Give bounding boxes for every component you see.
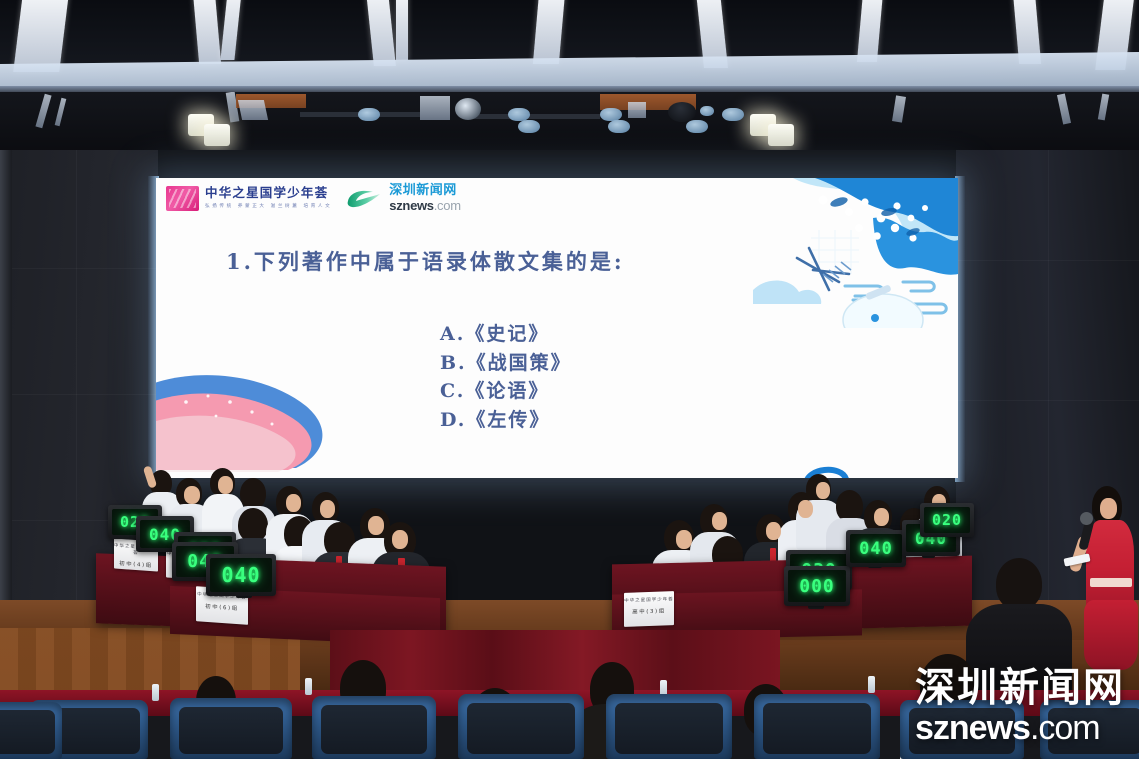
nameplate-label: 高中(3)组 bbox=[624, 606, 674, 616]
ceiling-structure bbox=[0, 0, 1139, 92]
option-b: B.《战国策》 bbox=[440, 349, 572, 378]
seat bbox=[170, 698, 292, 759]
event-subtitle: 弘扬传统 养蒙正大 滋兰树蕙 培育人文 bbox=[205, 203, 332, 209]
answer-options: A.《史记》 B.《战国策》 C.《论语》 D.《左传》 bbox=[440, 320, 572, 434]
seat bbox=[458, 694, 584, 759]
slide-decoration-top-right bbox=[753, 178, 958, 328]
projection-screen: 中华之星国学少年荟 弘扬传统 养蒙正大 滋兰树蕙 培育人文 深圳新闻网 bbox=[156, 178, 958, 478]
score-display-right-2: 000 bbox=[784, 566, 850, 606]
sznews-logo: 深圳新闻网 sznews.com bbox=[346, 184, 460, 212]
score-display-right-5: 020 bbox=[920, 503, 974, 537]
photo-scene: 中华之星国学少年荟 弘扬传统 养蒙正大 滋兰树蕙 培育人文 深圳新闻网 bbox=[0, 0, 1139, 759]
option-d: D.《左传》 bbox=[440, 406, 572, 435]
score-value: 040 bbox=[859, 539, 893, 559]
score-value: 000 bbox=[799, 576, 835, 597]
sznews-cn-label: 深圳新闻网 bbox=[389, 184, 460, 197]
watermark-en: sznews bbox=[915, 709, 1030, 747]
event-title: 中华之星国学少年荟 bbox=[205, 187, 332, 200]
spotlight bbox=[768, 124, 794, 146]
nameplate-sub: 中华之星国学少年荟 bbox=[624, 596, 674, 604]
slide-header: 中华之星国学少年荟 弘扬传统 养蒙正大 滋兰树蕙 培育人文 深圳新闻网 bbox=[166, 184, 461, 212]
score-display-left-5: 040 bbox=[206, 554, 276, 596]
question-text: 1.下列著作中属于语录体散文集的是: bbox=[226, 246, 625, 276]
table-nameplate: 中华之星国学少年荟 高中(3)组 bbox=[624, 591, 674, 627]
score-value: 040 bbox=[221, 563, 260, 587]
seat bbox=[0, 702, 62, 759]
green-swoosh-icon bbox=[346, 188, 384, 209]
spotlight bbox=[204, 124, 230, 146]
red-seal-icon bbox=[166, 186, 199, 211]
watermark-cn: 深圳新闻网 bbox=[915, 668, 1125, 708]
watermark-domain-suffix: .com bbox=[1030, 709, 1100, 747]
score-display-right-3: 040 bbox=[846, 530, 906, 567]
stage-lighting-truss bbox=[0, 92, 1139, 154]
watermark: 深圳新闻网 sznews.com bbox=[915, 668, 1125, 745]
option-a: A.《史记》 bbox=[440, 320, 572, 349]
seat bbox=[312, 696, 436, 759]
blue-curved-arrow-icon bbox=[796, 461, 866, 478]
seat bbox=[754, 694, 880, 759]
option-c: C.《论语》 bbox=[440, 377, 572, 406]
slide-decoration-bottom-left bbox=[156, 358, 406, 478]
nameplate-label: 初中(6)组 bbox=[196, 601, 248, 613]
sznews-en-label: sznews bbox=[389, 198, 433, 213]
sznews-domain-suffix: .com bbox=[434, 198, 461, 213]
score-value: 020 bbox=[932, 511, 962, 529]
nameplate-label: 初中(4)组 bbox=[114, 558, 158, 569]
left-pillar bbox=[0, 150, 12, 670]
seat bbox=[606, 694, 732, 759]
